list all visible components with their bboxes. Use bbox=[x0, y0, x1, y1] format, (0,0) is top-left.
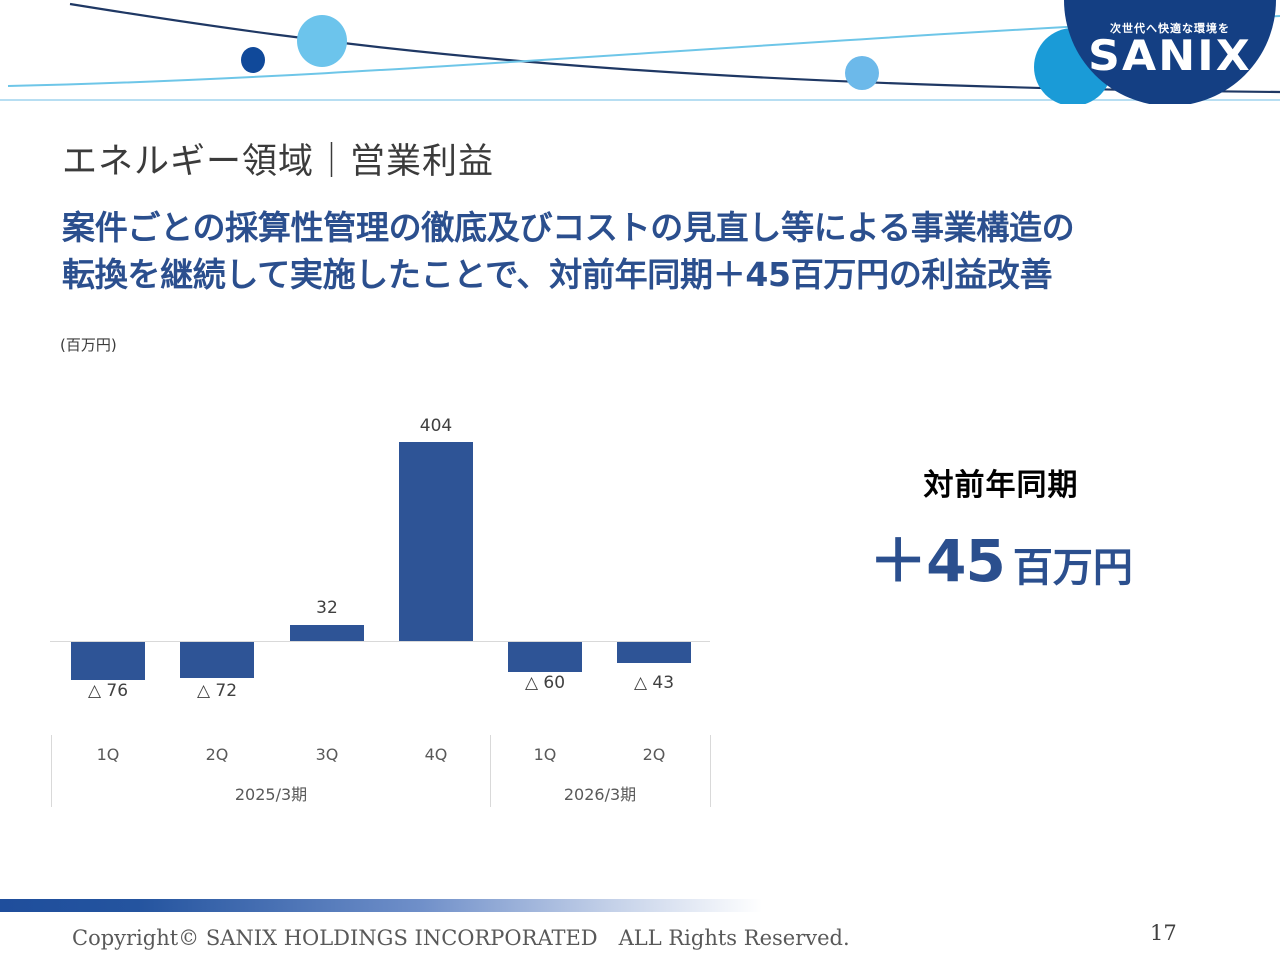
bar-4q-fy2025 bbox=[399, 442, 473, 641]
bar-label-3q-fy2025: 32 bbox=[287, 598, 367, 618]
fiscal-group-label-2026: 2026/3期 bbox=[540, 781, 660, 805]
category-divider-right bbox=[710, 735, 711, 807]
callout-unit: 百万円 bbox=[1013, 545, 1133, 591]
fiscal-group-label-2025: 2025/3期 bbox=[211, 781, 331, 805]
chart-category-table: 1Q 2Q 3Q 4Q 1Q 2Q 2025/3期 2026/3期 bbox=[51, 735, 711, 807]
bar-label-4q-fy2025: 404 bbox=[396, 416, 476, 436]
bar-1q-fy2026 bbox=[508, 642, 582, 672]
category-divider-left bbox=[51, 735, 52, 807]
bar-label-1q-fy2025: △ 76 bbox=[68, 681, 148, 701]
category-label-1q-fy2026: 1Q bbox=[515, 745, 575, 764]
bar-chart: △ 76 △ 72 32 404 △ 60 △ 43 bbox=[50, 400, 716, 650]
headline-line-1: 案件ごとの採算性管理の徹底及びコストの見直し等による事業構造の bbox=[62, 208, 1074, 247]
footer-copyright: Copyright© SANIX HOLDINGS INCORPORATED A… bbox=[72, 922, 850, 952]
header-decoration: 次世代へ快適な環境を SANIX bbox=[0, 0, 1280, 104]
bar-2q-fy2025 bbox=[180, 642, 254, 678]
yoy-callout: 対前年同期 ＋45百万円 bbox=[836, 460, 1166, 598]
slide: 次世代へ快適な環境を SANIX エネルギー領域｜営業利益 案件ごとの採算性管理… bbox=[0, 0, 1280, 960]
bar-label-1q-fy2026: △ 60 bbox=[505, 673, 585, 693]
callout-value-row: ＋45百万円 bbox=[836, 514, 1166, 598]
page-number: 17 bbox=[1150, 921, 1177, 945]
bar-3q-fy2025 bbox=[290, 625, 364, 641]
category-label-3q-fy2025: 3Q bbox=[297, 745, 357, 764]
category-label-1q-fy2025: 1Q bbox=[78, 745, 138, 764]
headline: 案件ごとの採算性管理の徹底及びコストの見直し等による事業構造の 転換を継続して実… bbox=[62, 205, 1202, 299]
logo-wordmark: SANIX bbox=[1059, 31, 1280, 80]
sanix-logo: 次世代へ快適な環境を SANIX bbox=[1020, 0, 1280, 104]
bar-label-2q-fy2025: △ 72 bbox=[177, 681, 257, 701]
chart-unit-label: (百万円) bbox=[60, 334, 117, 355]
bar-label-2q-fy2026: △ 43 bbox=[614, 673, 694, 693]
footer-gradient-bar bbox=[0, 899, 762, 912]
category-divider-middle bbox=[490, 735, 491, 807]
category-label-2q-fy2026: 2Q bbox=[624, 745, 684, 764]
category-label-2q-fy2025: 2Q bbox=[187, 745, 247, 764]
callout-title: 対前年同期 bbox=[836, 460, 1166, 504]
category-label-4q-fy2025: 4Q bbox=[406, 745, 466, 764]
bar-1q-fy2025 bbox=[71, 642, 145, 680]
headline-line-2: 転換を継続して実施したことで、対前年同期＋45百万円の利益改善 bbox=[62, 252, 1202, 299]
chart-baseline-axis bbox=[50, 641, 710, 642]
bar-2q-fy2026 bbox=[617, 642, 691, 663]
page-title: エネルギー領域｜営業利益 bbox=[62, 133, 494, 184]
callout-number: ＋45 bbox=[869, 527, 1005, 595]
